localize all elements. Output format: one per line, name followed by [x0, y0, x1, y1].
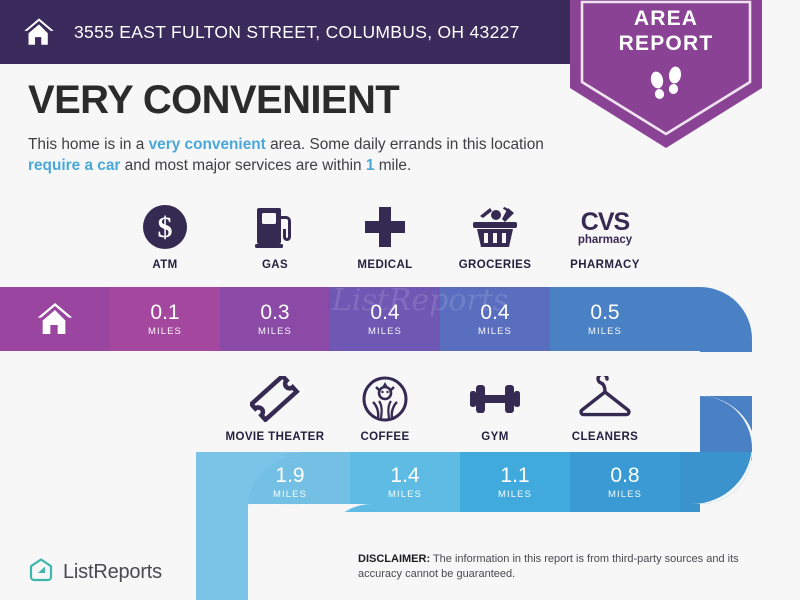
disclaimer: DISCLAIMER: The information in this repo…	[358, 552, 778, 582]
distance-value: 0.3	[260, 302, 289, 324]
category-row-2: MOVIE THEATER COFFEE	[220, 372, 660, 443]
dollar-circle-icon: $	[142, 200, 188, 250]
category-label: GROCERIES	[459, 259, 532, 271]
page-subtitle: This home is in a very convenient area. …	[28, 134, 558, 176]
header-bar: 3555 EAST FULTON STREET, COLUMBUS, OH 43…	[0, 0, 572, 64]
category-label: ATM	[152, 259, 177, 271]
distance-value: 1.9	[275, 465, 304, 487]
distance-value-gas: 0.3 MILES	[220, 287, 330, 351]
gas-pump-icon	[253, 200, 297, 250]
distance-value: 0.8	[610, 465, 639, 487]
distance-value: 0.4	[480, 302, 509, 324]
page-title: VERY CONVENIENT	[28, 78, 399, 123]
distance-value-atm: 0.1 MILES	[110, 287, 220, 351]
starbucks-siren-icon	[362, 372, 408, 422]
distance-unit: MILES	[498, 489, 532, 500]
category-pharmacy[interactable]: CVS pharmacy PHARMACY	[550, 200, 660, 271]
distance-unit: MILES	[273, 489, 307, 500]
category-gym[interactable]: GYM	[440, 372, 550, 443]
distance-value-gym: 1.1 MILES	[460, 452, 570, 512]
distance-unit: MILES	[388, 489, 422, 500]
distance-value-pharmacy: 0.5 MILES	[550, 287, 660, 351]
subtitle-highlight-2: require a car	[28, 157, 120, 174]
distance-value: 0.4	[370, 302, 399, 324]
distance-value-medical: 0.4 MILES	[330, 287, 440, 351]
subtitle-part-1: This home is in a	[28, 136, 149, 153]
subtitle-part-3: and most major services are within	[120, 157, 365, 174]
listreports-logo[interactable]: ListReports	[28, 557, 162, 588]
svg-text:CVS: CVS	[581, 208, 630, 236]
distance-unit: MILES	[588, 326, 622, 337]
distance-unit: MILES	[608, 489, 642, 500]
category-movie-theater[interactable]: MOVIE THEATER	[220, 372, 330, 443]
listreports-logo-text: ListReports	[63, 561, 162, 584]
listreports-logo-icon	[28, 557, 54, 588]
category-label: GYM	[481, 431, 508, 443]
category-label: CLEANERS	[572, 431, 638, 443]
category-label: MOVIE THEATER	[226, 431, 325, 443]
category-label: PHARMACY	[570, 259, 640, 271]
svg-text:pharmacy: pharmacy	[578, 234, 633, 246]
footprints-icon	[570, 66, 762, 111]
category-cleaners[interactable]: CLEANERS	[550, 372, 660, 443]
category-label: COFFEE	[360, 431, 409, 443]
subtitle-part-2: area. Some daily errands in this locatio…	[266, 136, 544, 153]
distance-value-cleaners: 0.8 MILES	[570, 452, 680, 512]
distance-value: 0.1	[150, 302, 179, 324]
category-groceries[interactable]: GROCERIES	[440, 200, 550, 271]
distance-unit: MILES	[368, 326, 402, 337]
distance-value: 1.1	[500, 465, 529, 487]
home-marker	[0, 287, 110, 351]
category-label: MEDICAL	[357, 259, 412, 271]
badge-line-2: REPORT	[570, 31, 762, 56]
badge-line-1: AREA	[570, 6, 762, 31]
distance-value-groceries: 0.4 MILES	[440, 287, 550, 351]
distance-unit: MILES	[148, 326, 182, 337]
dumbbell-icon	[468, 372, 522, 422]
distance-unit: MILES	[258, 326, 292, 337]
category-label: GAS	[262, 259, 288, 271]
area-report-badge: AREA REPORT	[570, 0, 762, 148]
distance-value: 0.5	[590, 302, 619, 324]
disclaimer-label: DISCLAIMER:	[358, 553, 430, 565]
clothes-hanger-icon	[577, 372, 633, 422]
category-row-1: $ ATM GAS MEDICAL	[110, 200, 660, 271]
badge-label: AREA REPORT	[570, 6, 762, 56]
medical-cross-icon	[362, 200, 408, 250]
category-gas[interactable]: GAS	[220, 200, 330, 271]
area-report-infographic: 3555 EAST FULTON STREET, COLUMBUS, OH 43…	[0, 0, 800, 600]
distance-value-movie-theater: 1.9 MILES	[230, 452, 350, 512]
category-medical[interactable]: MEDICAL	[330, 200, 440, 271]
subtitle-part-4: mile.	[374, 157, 411, 174]
property-address: 3555 EAST FULTON STREET, COLUMBUS, OH 43…	[74, 22, 520, 43]
distance-value: 1.4	[390, 465, 419, 487]
distance-unit: MILES	[478, 326, 512, 337]
subtitle-highlight-1: very convenient	[149, 136, 266, 153]
ticket-icon	[250, 372, 300, 422]
distance-value-coffee: 1.4 MILES	[350, 452, 460, 512]
grocery-basket-icon	[470, 200, 520, 250]
svg-text:$: $	[158, 211, 173, 244]
category-coffee[interactable]: COFFEE	[330, 372, 440, 443]
category-atm[interactable]: $ ATM	[110, 200, 220, 271]
cvs-pharmacy-logo: CVS pharmacy	[566, 200, 644, 250]
home-icon	[22, 15, 56, 49]
